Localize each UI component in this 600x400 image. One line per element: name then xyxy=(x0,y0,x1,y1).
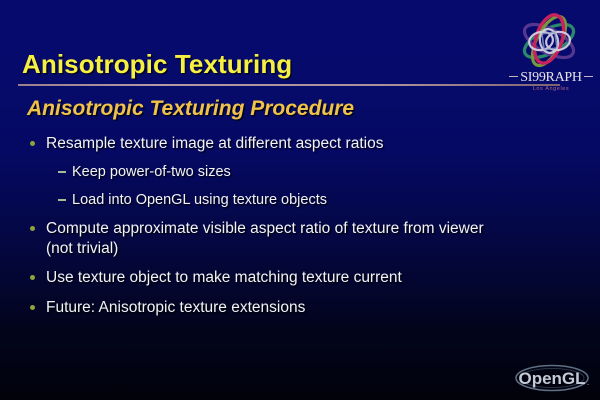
list-item: Load into OpenGL using texture objects xyxy=(0,191,600,210)
bullet-dot-icon xyxy=(30,298,46,318)
opengl-logo: OpenGL . xyxy=(512,362,596,394)
bullet-dot-icon xyxy=(30,268,46,288)
bullet-list: Resample texture image at different aspe… xyxy=(0,134,600,327)
list-item: Compute approximate visible aspect ratio… xyxy=(0,219,600,259)
svg-text:OpenGL: OpenGL xyxy=(518,369,585,388)
list-item: Future: Anisotropic texture extensions xyxy=(0,298,600,318)
list-item-label: Compute approximate visible aspect ratio… xyxy=(46,219,496,259)
bullet-dash-icon xyxy=(58,191,72,210)
list-item: Keep power-of-two sizes xyxy=(0,163,600,182)
list-item-label: Resample texture image at different aspe… xyxy=(46,134,383,154)
list-item-label: Load into OpenGL using texture objects xyxy=(72,191,327,210)
title-divider-rule xyxy=(18,84,560,86)
list-item-label: Keep power-of-two sizes xyxy=(72,163,231,182)
siggraph-wordmark-text: SI99RAPH xyxy=(520,70,581,85)
opengl-logo-icon: OpenGL . xyxy=(512,362,596,394)
siggraph-logo: SI99RAPH Los Angeles xyxy=(500,8,598,100)
siggraph-wordmark: SI99RAPH xyxy=(504,70,598,86)
svg-text:.: . xyxy=(587,377,590,387)
list-item: Use texture object to make matching text… xyxy=(0,268,600,288)
siggraph-city-label: Los Angeles xyxy=(504,86,598,92)
list-item-label: Use texture object to make matching text… xyxy=(46,268,402,288)
bullet-dot-icon xyxy=(30,134,46,154)
slide-subtitle: Anisotropic Texturing Procedure xyxy=(27,97,354,121)
bullet-dash-icon xyxy=(58,163,72,182)
bullet-dot-icon xyxy=(30,219,46,239)
siggraph-rings-icon xyxy=(500,8,598,72)
list-item-label: Future: Anisotropic texture extensions xyxy=(46,298,305,318)
slide-title: Anisotropic Texturing xyxy=(22,49,292,80)
list-item: Resample texture image at different aspe… xyxy=(0,134,600,154)
slide: Anisotropic Texturing Anisotropic Textur… xyxy=(0,0,600,400)
